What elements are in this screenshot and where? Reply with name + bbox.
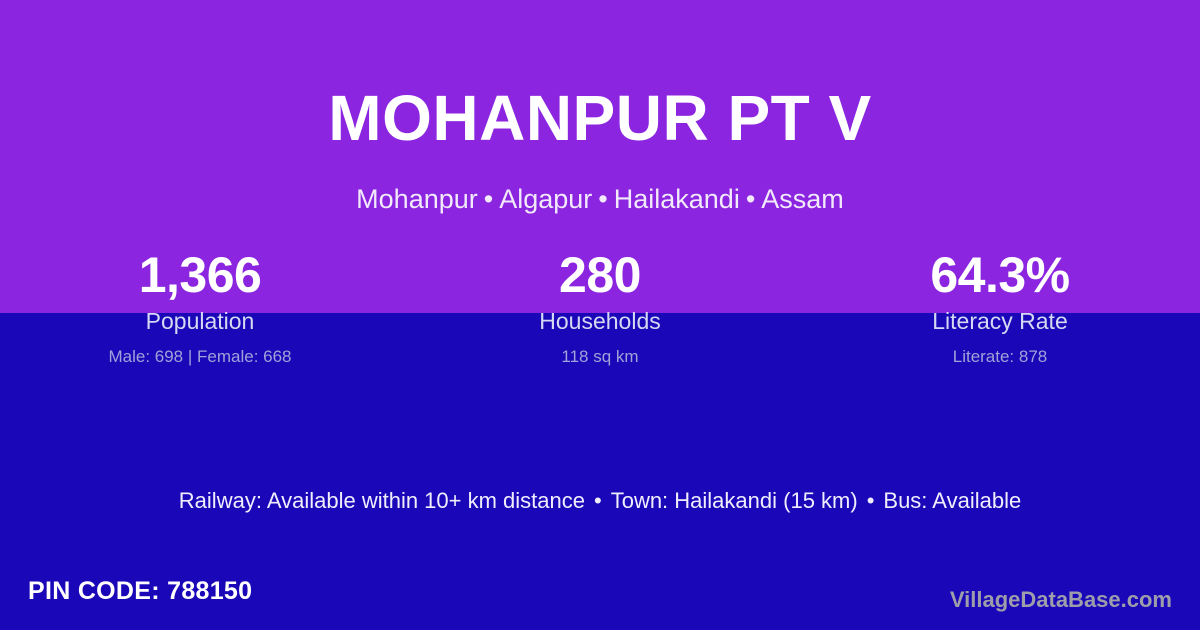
breadcrumb-item-district: Hailakandi (614, 184, 740, 214)
page-title: MOHANPUR PT V (0, 86, 1200, 150)
breadcrumb-separator: • (478, 184, 499, 214)
amenity-bus: Bus: Available (883, 488, 1021, 513)
stat-label: Population (0, 306, 400, 336)
stat-label: Households (400, 306, 800, 336)
stat-value: 1,366 (0, 246, 400, 304)
stat-label: Literacy Rate (800, 306, 1200, 336)
stats-row: 1,366 Population Male: 698 | Female: 668… (0, 246, 1200, 369)
amenities-separator: • (858, 488, 884, 513)
breadcrumb-separator: • (740, 184, 761, 214)
stat-population: 1,366 Population Male: 698 | Female: 668 (0, 246, 400, 369)
stat-sublabel: Male: 698 | Female: 668 (0, 345, 400, 369)
stat-sublabel: 118 sq km (400, 345, 800, 369)
stat-households: 280 Households 118 sq km (400, 246, 800, 369)
site-brand: VillageDataBase.com (950, 586, 1172, 614)
breadcrumb-item-village: Mohanpur (356, 184, 478, 214)
pin-code: PIN CODE: 788150 (28, 575, 252, 607)
breadcrumb-separator: • (592, 184, 613, 214)
breadcrumb-item-block: Algapur (499, 184, 592, 214)
stat-value: 280 (400, 246, 800, 304)
breadcrumb: Mohanpur•Algapur•Hailakandi•Assam (0, 183, 1200, 215)
village-info-card: MOHANPUR PT V Mohanpur•Algapur•Hailakand… (0, 0, 1200, 630)
amenity-town: Town: Hailakandi (15 km) (611, 488, 858, 513)
stat-value: 64.3% (800, 246, 1200, 304)
stat-literacy-rate: 64.3% Literacy Rate Literate: 878 (800, 246, 1200, 369)
amenities-separator: • (585, 488, 611, 513)
stat-sublabel: Literate: 878 (800, 345, 1200, 369)
amenities-line: Railway: Available within 10+ km distanc… (0, 486, 1200, 516)
amenity-railway: Railway: Available within 10+ km distanc… (179, 488, 585, 513)
breadcrumb-item-state: Assam (761, 184, 844, 214)
